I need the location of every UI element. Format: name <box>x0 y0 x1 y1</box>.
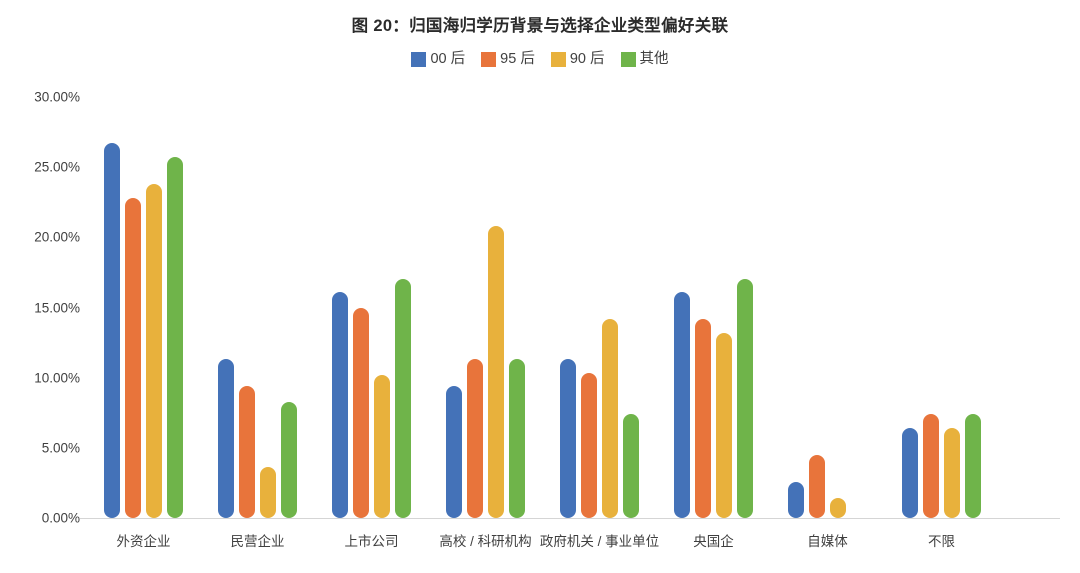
x-tick-label: 政府机关 / 事业单位 <box>540 530 659 550</box>
y-tick-label: 15.00% <box>6 300 80 315</box>
bar[interactable] <box>509 359 525 518</box>
bar[interactable] <box>716 333 732 518</box>
bar[interactable] <box>809 455 825 518</box>
legend-label: 其他 <box>640 52 669 67</box>
bar[interactable] <box>695 319 711 518</box>
bar-group <box>560 97 644 518</box>
x-tick-label: 民营企业 <box>231 530 285 550</box>
plot-area <box>88 97 1060 518</box>
y-tick-label: 10.00% <box>6 370 80 385</box>
bar[interactable] <box>146 184 162 518</box>
x-tick-label: 外资企业 <box>117 530 171 550</box>
bar[interactable] <box>923 414 939 518</box>
bar[interactable] <box>737 279 753 518</box>
y-tick-label: 30.00% <box>6 90 80 105</box>
legend-item[interactable]: 90 后 <box>551 52 605 67</box>
legend-item[interactable]: 95 后 <box>481 52 535 67</box>
bar[interactable] <box>788 482 804 518</box>
bar[interactable] <box>125 198 141 518</box>
bar[interactable] <box>260 467 276 518</box>
legend-swatch-icon <box>481 52 496 67</box>
y-tick-label: 5.00% <box>6 440 80 455</box>
legend-swatch-icon <box>551 52 566 67</box>
bar[interactable] <box>488 226 504 518</box>
bar-group <box>218 97 302 518</box>
y-axis: 0.00%5.00%10.00%15.00%20.00%25.00%30.00% <box>0 0 80 573</box>
y-tick-label: 0.00% <box>6 511 80 526</box>
bar[interactable] <box>281 402 297 518</box>
legend-swatch-icon <box>621 52 636 67</box>
legend-item[interactable]: 00 后 <box>411 52 465 67</box>
bar[interactable] <box>167 157 183 518</box>
legend-label: 90 后 <box>570 52 605 67</box>
bar[interactable] <box>353 308 369 519</box>
bar-chart: 图 20：归国海归学历背景与选择企业类型偏好关联 00 后95 后90 后其他 … <box>0 0 1080 573</box>
bar[interactable] <box>332 292 348 518</box>
bar-group <box>902 97 986 518</box>
x-tick-label: 不限 <box>928 530 955 550</box>
y-tick-label: 20.00% <box>6 230 80 245</box>
bar[interactable] <box>944 428 960 518</box>
bar[interactable] <box>239 386 255 518</box>
bar[interactable] <box>374 375 390 518</box>
bar[interactable] <box>395 279 411 518</box>
legend-label: 00 后 <box>430 52 465 67</box>
x-tick-label: 自媒体 <box>807 530 848 550</box>
y-tick-label: 25.00% <box>6 160 80 175</box>
bar-group <box>104 97 188 518</box>
bar[interactable] <box>467 359 483 518</box>
x-tick-label: 央国企 <box>693 530 734 550</box>
x-axis-baseline <box>80 518 1060 519</box>
bar[interactable] <box>602 319 618 518</box>
bar[interactable] <box>674 292 690 518</box>
legend-swatch-icon <box>411 52 426 67</box>
bar-group <box>788 97 872 518</box>
x-tick-label: 上市公司 <box>345 530 399 550</box>
bar[interactable] <box>104 143 120 518</box>
bar[interactable] <box>902 428 918 518</box>
chart-legend: 00 后95 后90 后其他 <box>0 52 1080 67</box>
bar[interactable] <box>581 373 597 518</box>
bar-group <box>446 97 530 518</box>
legend-item[interactable]: 其他 <box>621 52 669 67</box>
bar[interactable] <box>446 386 462 518</box>
bar-group <box>332 97 416 518</box>
bar-group <box>674 97 758 518</box>
legend-label: 95 后 <box>500 52 535 67</box>
chart-title: 图 20：归国海归学历背景与选择企业类型偏好关联 <box>0 12 1080 36</box>
bar[interactable] <box>218 359 234 518</box>
bar[interactable] <box>623 414 639 518</box>
bar[interactable] <box>560 359 576 518</box>
bar[interactable] <box>965 414 981 518</box>
bar[interactable] <box>830 498 846 518</box>
x-tick-label: 高校 / 科研机构 <box>439 530 531 550</box>
